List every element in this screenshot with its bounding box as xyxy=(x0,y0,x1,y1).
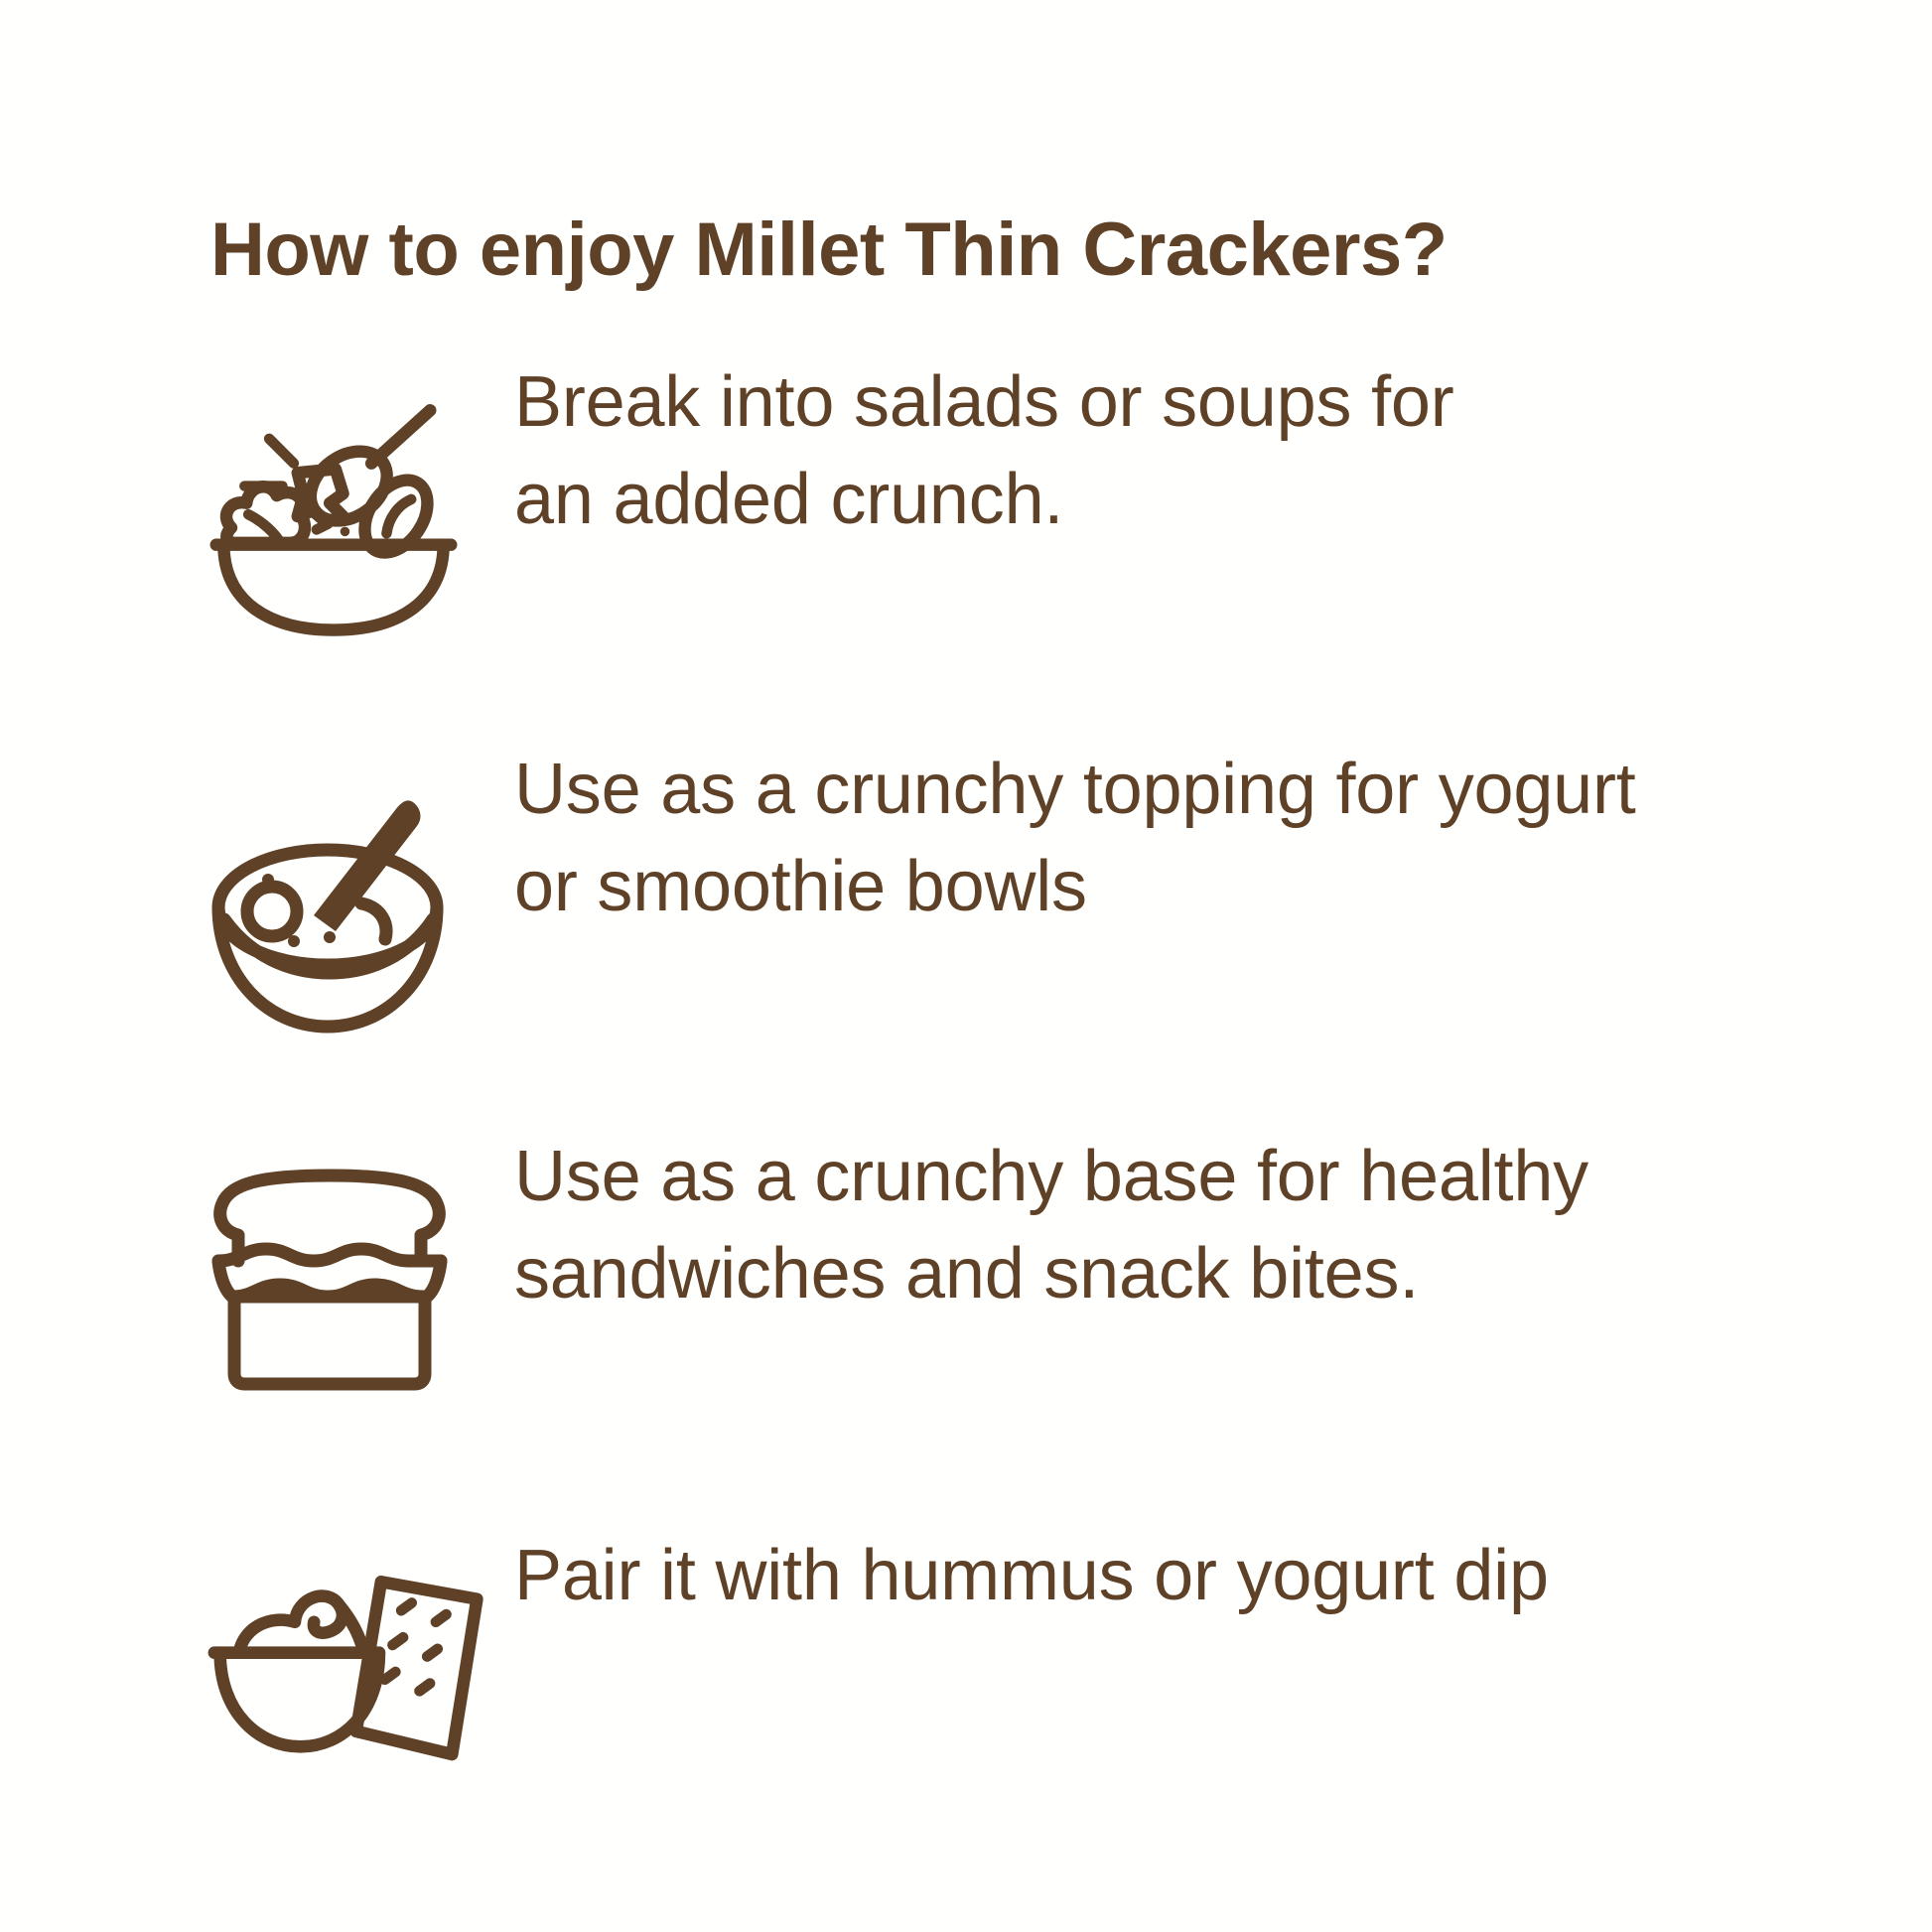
dip-bowl-with-cracker-icon xyxy=(210,1573,488,1771)
list-item-text: Use as a crunchy base for healthy sandwi… xyxy=(514,1128,1696,1322)
list-item-text: Pair it with hummus or yogurt dip xyxy=(514,1527,1626,1624)
sandwich-icon xyxy=(210,1170,449,1398)
how-to-enjoy-panel: How to enjoy Millet Thin Crackers? xyxy=(0,0,1932,1932)
salad-bowl-icon xyxy=(210,395,457,641)
list-item-text: Use as a crunchy topping for yogurt or s… xyxy=(514,741,1686,935)
yogurt-bowl-with-spoon-icon xyxy=(210,792,449,1042)
list-item-text: Break into salads or soups for an added … xyxy=(514,353,1517,548)
page-title: How to enjoy Millet Thin Crackers? xyxy=(210,205,1859,296)
